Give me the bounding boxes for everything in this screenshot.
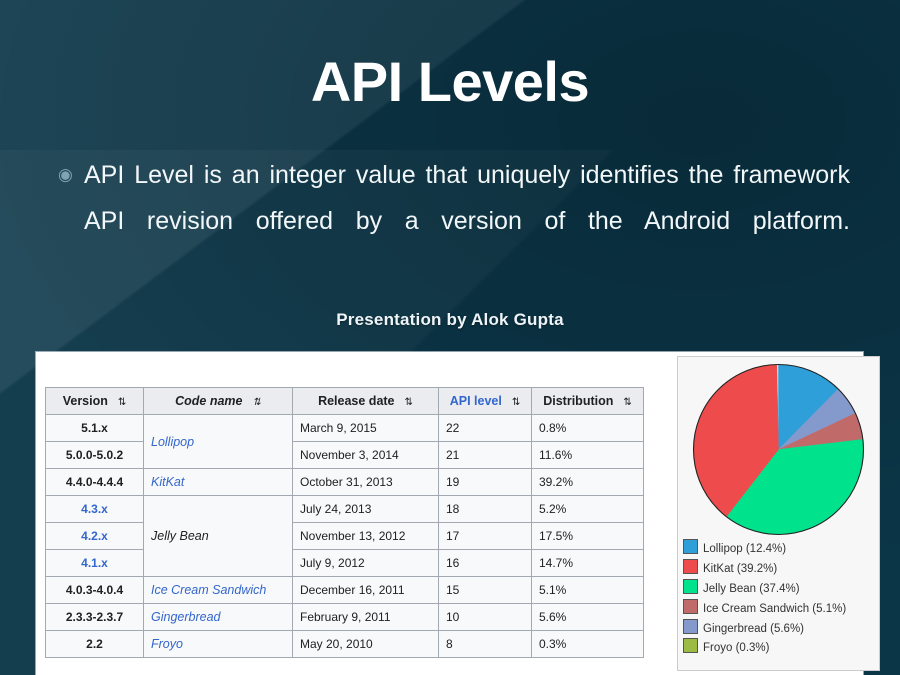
version-label: 4.0.3-4.0.4: [66, 583, 123, 597]
page-title: API Levels: [0, 54, 900, 110]
cell-api-level: 22: [439, 415, 532, 442]
cell-release-date: November 13, 2012: [293, 523, 439, 550]
cell-release-date: November 3, 2014: [293, 442, 439, 469]
cell-version: 2.3.3-2.3.7: [46, 604, 144, 631]
version-label[interactable]: 4.3.x: [81, 502, 108, 516]
cell-distribution: 39.2%: [532, 469, 644, 496]
pie-chart: [682, 362, 875, 537]
legend-swatch-icon: [683, 559, 698, 574]
cell-distribution: 14.7%: [532, 550, 644, 577]
code-name-label[interactable]: Lollipop: [151, 435, 194, 449]
legend-label: Lollipop (12.4%): [703, 543, 786, 555]
column-header-release-date[interactable]: Release date⇅: [293, 388, 439, 415]
column-header-code-name-label: Code name: [175, 394, 242, 408]
version-label: 2.2: [86, 637, 103, 651]
code-name-label[interactable]: KitKat: [151, 475, 184, 489]
cell-version: 4.4.0-4.4.4: [46, 469, 144, 496]
legend-swatch-icon: [683, 638, 698, 653]
column-header-release-date-label: Release date: [318, 394, 394, 408]
sort-icon[interactable]: ⇅: [512, 397, 520, 408]
cell-api-level: 10: [439, 604, 532, 631]
cell-distribution: 5.2%: [532, 496, 644, 523]
code-name-label[interactable]: Froyo: [151, 637, 183, 651]
cell-version: 4.0.3-4.0.4: [46, 577, 144, 604]
cell-version[interactable]: 4.3.x: [46, 496, 144, 523]
cell-code-name[interactable]: Lollipop: [144, 415, 293, 469]
legend-item: Jelly Bean (37.4%): [683, 579, 879, 596]
table-row: 4.3.xJelly BeanJuly 24, 2013185.2%: [46, 496, 644, 523]
column-header-api-level-label: API level: [450, 394, 502, 408]
code-name-label[interactable]: Gingerbread: [151, 610, 221, 624]
cell-release-date: February 9, 2011: [293, 604, 439, 631]
bullet-item: ◉ API Level is an integer value that uni…: [50, 152, 850, 290]
legend-item: Lollipop (12.4%): [683, 539, 879, 556]
column-header-version-label: Version: [63, 394, 108, 408]
legend-item: KitKat (39.2%): [683, 559, 879, 576]
legend-item: Froyo (0.3%): [683, 638, 879, 655]
column-header-code-name[interactable]: Code name⇅: [144, 388, 293, 415]
sort-icon[interactable]: ⇅: [253, 397, 261, 408]
cell-api-level: 15: [439, 577, 532, 604]
table-row: 2.3.3-2.3.7GingerbreadFebruary 9, 201110…: [46, 604, 644, 631]
distribution-chart-box: Lollipop (12.4%)KitKat (39.2%)Jelly Bean…: [677, 356, 880, 671]
version-label: 5.0.0-5.0.2: [66, 448, 123, 462]
cell-code-name: Jelly Bean: [144, 496, 293, 577]
cell-distribution: 5.1%: [532, 577, 644, 604]
version-label: 5.1.x: [81, 421, 108, 435]
legend-label: Gingerbread (5.6%): [703, 623, 804, 635]
version-label[interactable]: 4.2.x: [81, 529, 108, 543]
legend-swatch-icon: [683, 539, 698, 554]
cell-version[interactable]: 4.2.x: [46, 523, 144, 550]
table-body: 5.1.xLollipopMarch 9, 2015220.8%5.0.0-5.…: [46, 415, 644, 658]
version-label: 2.3.3-2.3.7: [66, 610, 123, 624]
column-header-api-level[interactable]: API level⇅: [439, 388, 532, 415]
slide-canvas: API Levels ◉ API Level is an integer val…: [0, 0, 900, 675]
cell-api-level: 17: [439, 523, 532, 550]
column-header-distribution[interactable]: Distribution⇅: [532, 388, 644, 415]
cell-release-date: December 16, 2011: [293, 577, 439, 604]
chart-legend: Lollipop (12.4%)KitKat (39.2%)Jelly Bean…: [683, 539, 879, 658]
pie-chart-svg: [682, 362, 875, 537]
legend-swatch-icon: [683, 619, 698, 634]
legend-label: Ice Cream Sandwich (5.1%): [703, 603, 846, 615]
legend-item: Gingerbread (5.6%): [683, 619, 879, 636]
cell-release-date: October 31, 2013: [293, 469, 439, 496]
cell-distribution: 11.6%: [532, 442, 644, 469]
version-label[interactable]: 4.1.x: [81, 556, 108, 570]
presentation-byline: Presentation by Alok Gupta: [0, 310, 900, 330]
cell-api-level: 19: [439, 469, 532, 496]
table-row: 4.2.xNovember 13, 20121717.5%: [46, 523, 644, 550]
cell-distribution: 5.6%: [532, 604, 644, 631]
table-row: 5.0.0-5.0.2November 3, 20142111.6%: [46, 442, 644, 469]
table-row: 4.1.xJuly 9, 20121614.7%: [46, 550, 644, 577]
code-name-label: Jelly Bean: [151, 529, 209, 543]
cell-code-name[interactable]: Ice Cream Sandwich: [144, 577, 293, 604]
cell-release-date: March 9, 2015: [293, 415, 439, 442]
sort-icon[interactable]: ⇅: [405, 397, 413, 408]
cell-release-date: May 20, 2010: [293, 631, 439, 658]
cell-distribution: 0.3%: [532, 631, 644, 658]
cell-code-name[interactable]: Froyo: [144, 631, 293, 658]
sort-icon[interactable]: ⇅: [623, 397, 631, 408]
content-panel: Version⇅ Code name⇅ Release date⇅ API le…: [36, 352, 863, 675]
table-row: 4.0.3-4.0.4Ice Cream SandwichDecember 16…: [46, 577, 644, 604]
bullet-item-text: API Level is an integer value that uniqu…: [84, 152, 850, 290]
bullet-block: ◉ API Level is an integer value that uni…: [50, 152, 850, 290]
cell-code-name[interactable]: KitKat: [144, 469, 293, 496]
legend-label: Froyo (0.3%): [703, 642, 769, 654]
cell-api-level: 8: [439, 631, 532, 658]
legend-label: KitKat (39.2%): [703, 563, 777, 575]
bullet-ring-icon: ◉: [50, 152, 84, 198]
cell-version: 5.0.0-5.0.2: [46, 442, 144, 469]
cell-api-level: 16: [439, 550, 532, 577]
table-row: 2.2FroyoMay 20, 201080.3%: [46, 631, 644, 658]
code-name-label[interactable]: Ice Cream Sandwich: [151, 583, 266, 597]
column-header-distribution-label: Distribution: [543, 394, 613, 408]
version-label: 4.4.0-4.4.4: [66, 475, 123, 489]
legend-item: Ice Cream Sandwich (5.1%): [683, 599, 879, 616]
legend-swatch-icon: [683, 599, 698, 614]
legend-swatch-icon: [683, 579, 698, 594]
table-header-row: Version⇅ Code name⇅ Release date⇅ API le…: [46, 388, 644, 415]
cell-distribution: 0.8%: [532, 415, 644, 442]
cell-release-date: July 9, 2012: [293, 550, 439, 577]
column-header-version[interactable]: Version⇅: [46, 388, 144, 415]
table-header: Version⇅ Code name⇅ Release date⇅ API le…: [46, 388, 644, 415]
cell-code-name[interactable]: Gingerbread: [144, 604, 293, 631]
cell-version: 5.1.x: [46, 415, 144, 442]
sort-icon[interactable]: ⇅: [118, 397, 126, 408]
api-levels-table: Version⇅ Code name⇅ Release date⇅ API le…: [45, 387, 644, 658]
legend-label: Jelly Bean (37.4%): [703, 583, 800, 595]
cell-version[interactable]: 4.1.x: [46, 550, 144, 577]
cell-api-level: 21: [439, 442, 532, 469]
table-row: 5.1.xLollipopMarch 9, 2015220.8%: [46, 415, 644, 442]
cell-api-level: 18: [439, 496, 532, 523]
cell-release-date: July 24, 2013: [293, 496, 439, 523]
table-row: 4.4.0-4.4.4KitKatOctober 31, 20131939.2%: [46, 469, 644, 496]
cell-distribution: 17.5%: [532, 523, 644, 550]
cell-version: 2.2: [46, 631, 144, 658]
